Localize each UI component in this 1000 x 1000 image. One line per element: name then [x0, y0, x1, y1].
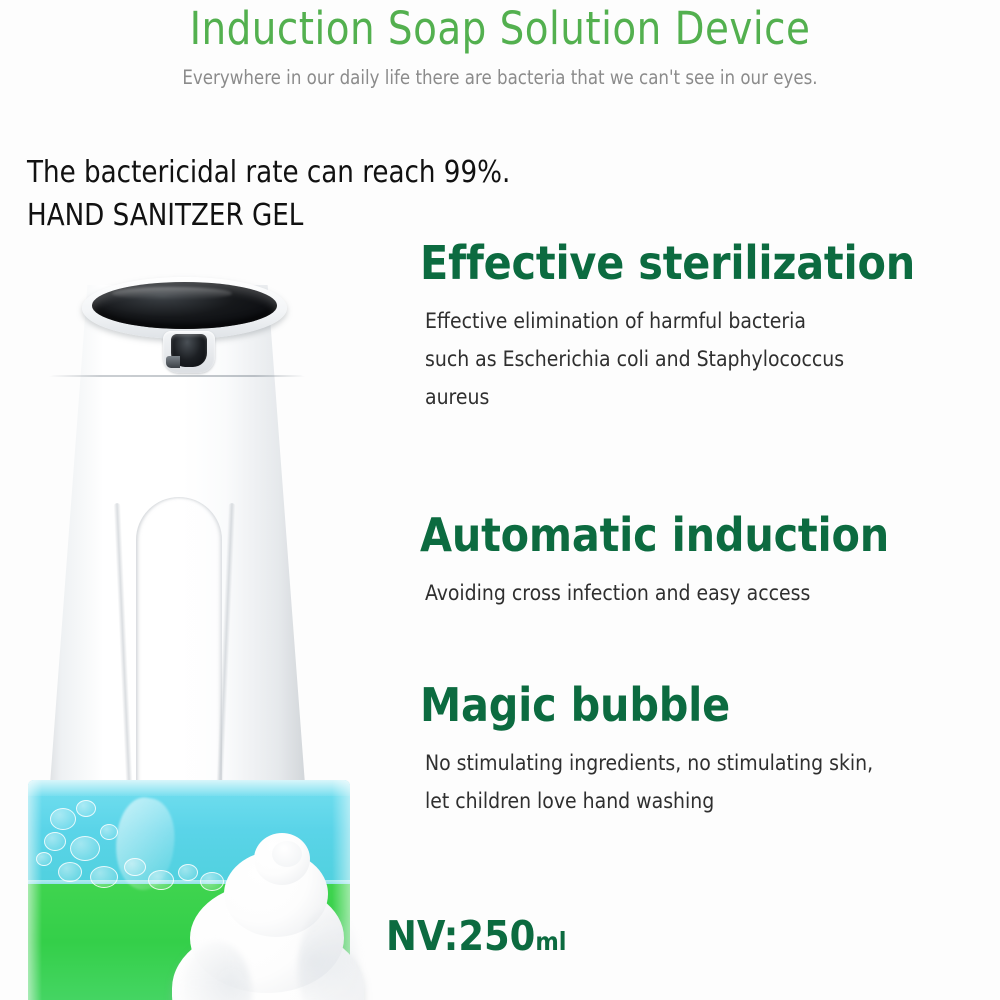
net-volume-value: NV:250	[386, 912, 535, 960]
bubble-icon	[44, 832, 66, 851]
bubble-icon	[124, 858, 146, 876]
bubble-icon	[70, 836, 100, 861]
foam-dollop	[168, 833, 368, 1000]
net-volume-badge: NV:250ml	[386, 912, 566, 960]
feature-heading: Magic bubble	[420, 682, 1000, 728]
net-volume-unit: ml	[535, 927, 566, 956]
dispenser-collar-seam	[48, 375, 306, 377]
feature-magic-bubble: Magic bubble No stimulating ingredients,…	[420, 682, 1000, 820]
liquid-top-highlight	[28, 780, 350, 796]
feature-body-line: aureus	[425, 378, 1000, 416]
dispenser-body-emboss	[136, 497, 222, 807]
feature-body: Avoiding cross infection and easy access	[420, 574, 1000, 612]
feature-effective-sterilization: Effective sterilization Effective elimin…	[420, 240, 1000, 417]
bactericidal-rate-text: The bactericidal rate can reach 99%.	[27, 155, 510, 190]
page-subtitle: Everywhere in our daily life there are b…	[25, 66, 975, 89]
feature-body-line: Avoiding cross infection and easy access	[425, 574, 1000, 612]
product-category-text: HAND SANITZER GEL	[27, 198, 303, 233]
dispenser-rim-highlight	[112, 287, 232, 300]
feature-body: No stimulating ingredients, no stimulati…	[420, 744, 1000, 820]
feature-body-line: let children love hand washing	[425, 782, 1000, 820]
bubble-icon	[76, 800, 96, 817]
feature-automatic-induction: Automatic induction Avoiding cross infec…	[420, 512, 1000, 612]
bubble-icon	[58, 862, 82, 882]
feature-body-line: No stimulating ingredients, no stimulati…	[425, 744, 1000, 782]
product-infographic: Induction Soap Solution Device Everywher…	[0, 0, 1000, 1000]
feature-body: Effective elimination of harmful bacteri…	[420, 302, 1000, 417]
reservoir-edge-left	[28, 780, 42, 1000]
feature-body-line: Effective elimination of harmful bacteri…	[425, 302, 1000, 340]
product-image-soap-dispenser	[0, 255, 420, 1000]
nozzle-lip	[166, 356, 180, 368]
page-title: Induction Soap Solution Device	[20, 2, 980, 55]
foam-swirl-peak	[272, 841, 302, 867]
feature-heading: Effective sterilization	[420, 240, 1000, 286]
bubble-icon	[90, 866, 118, 888]
feature-body-line: such as Escherichia coli and Staphylococ…	[425, 340, 1000, 378]
bubble-icon	[50, 808, 76, 830]
bubble-icon	[100, 824, 118, 840]
feature-heading: Automatic induction	[420, 512, 1000, 558]
